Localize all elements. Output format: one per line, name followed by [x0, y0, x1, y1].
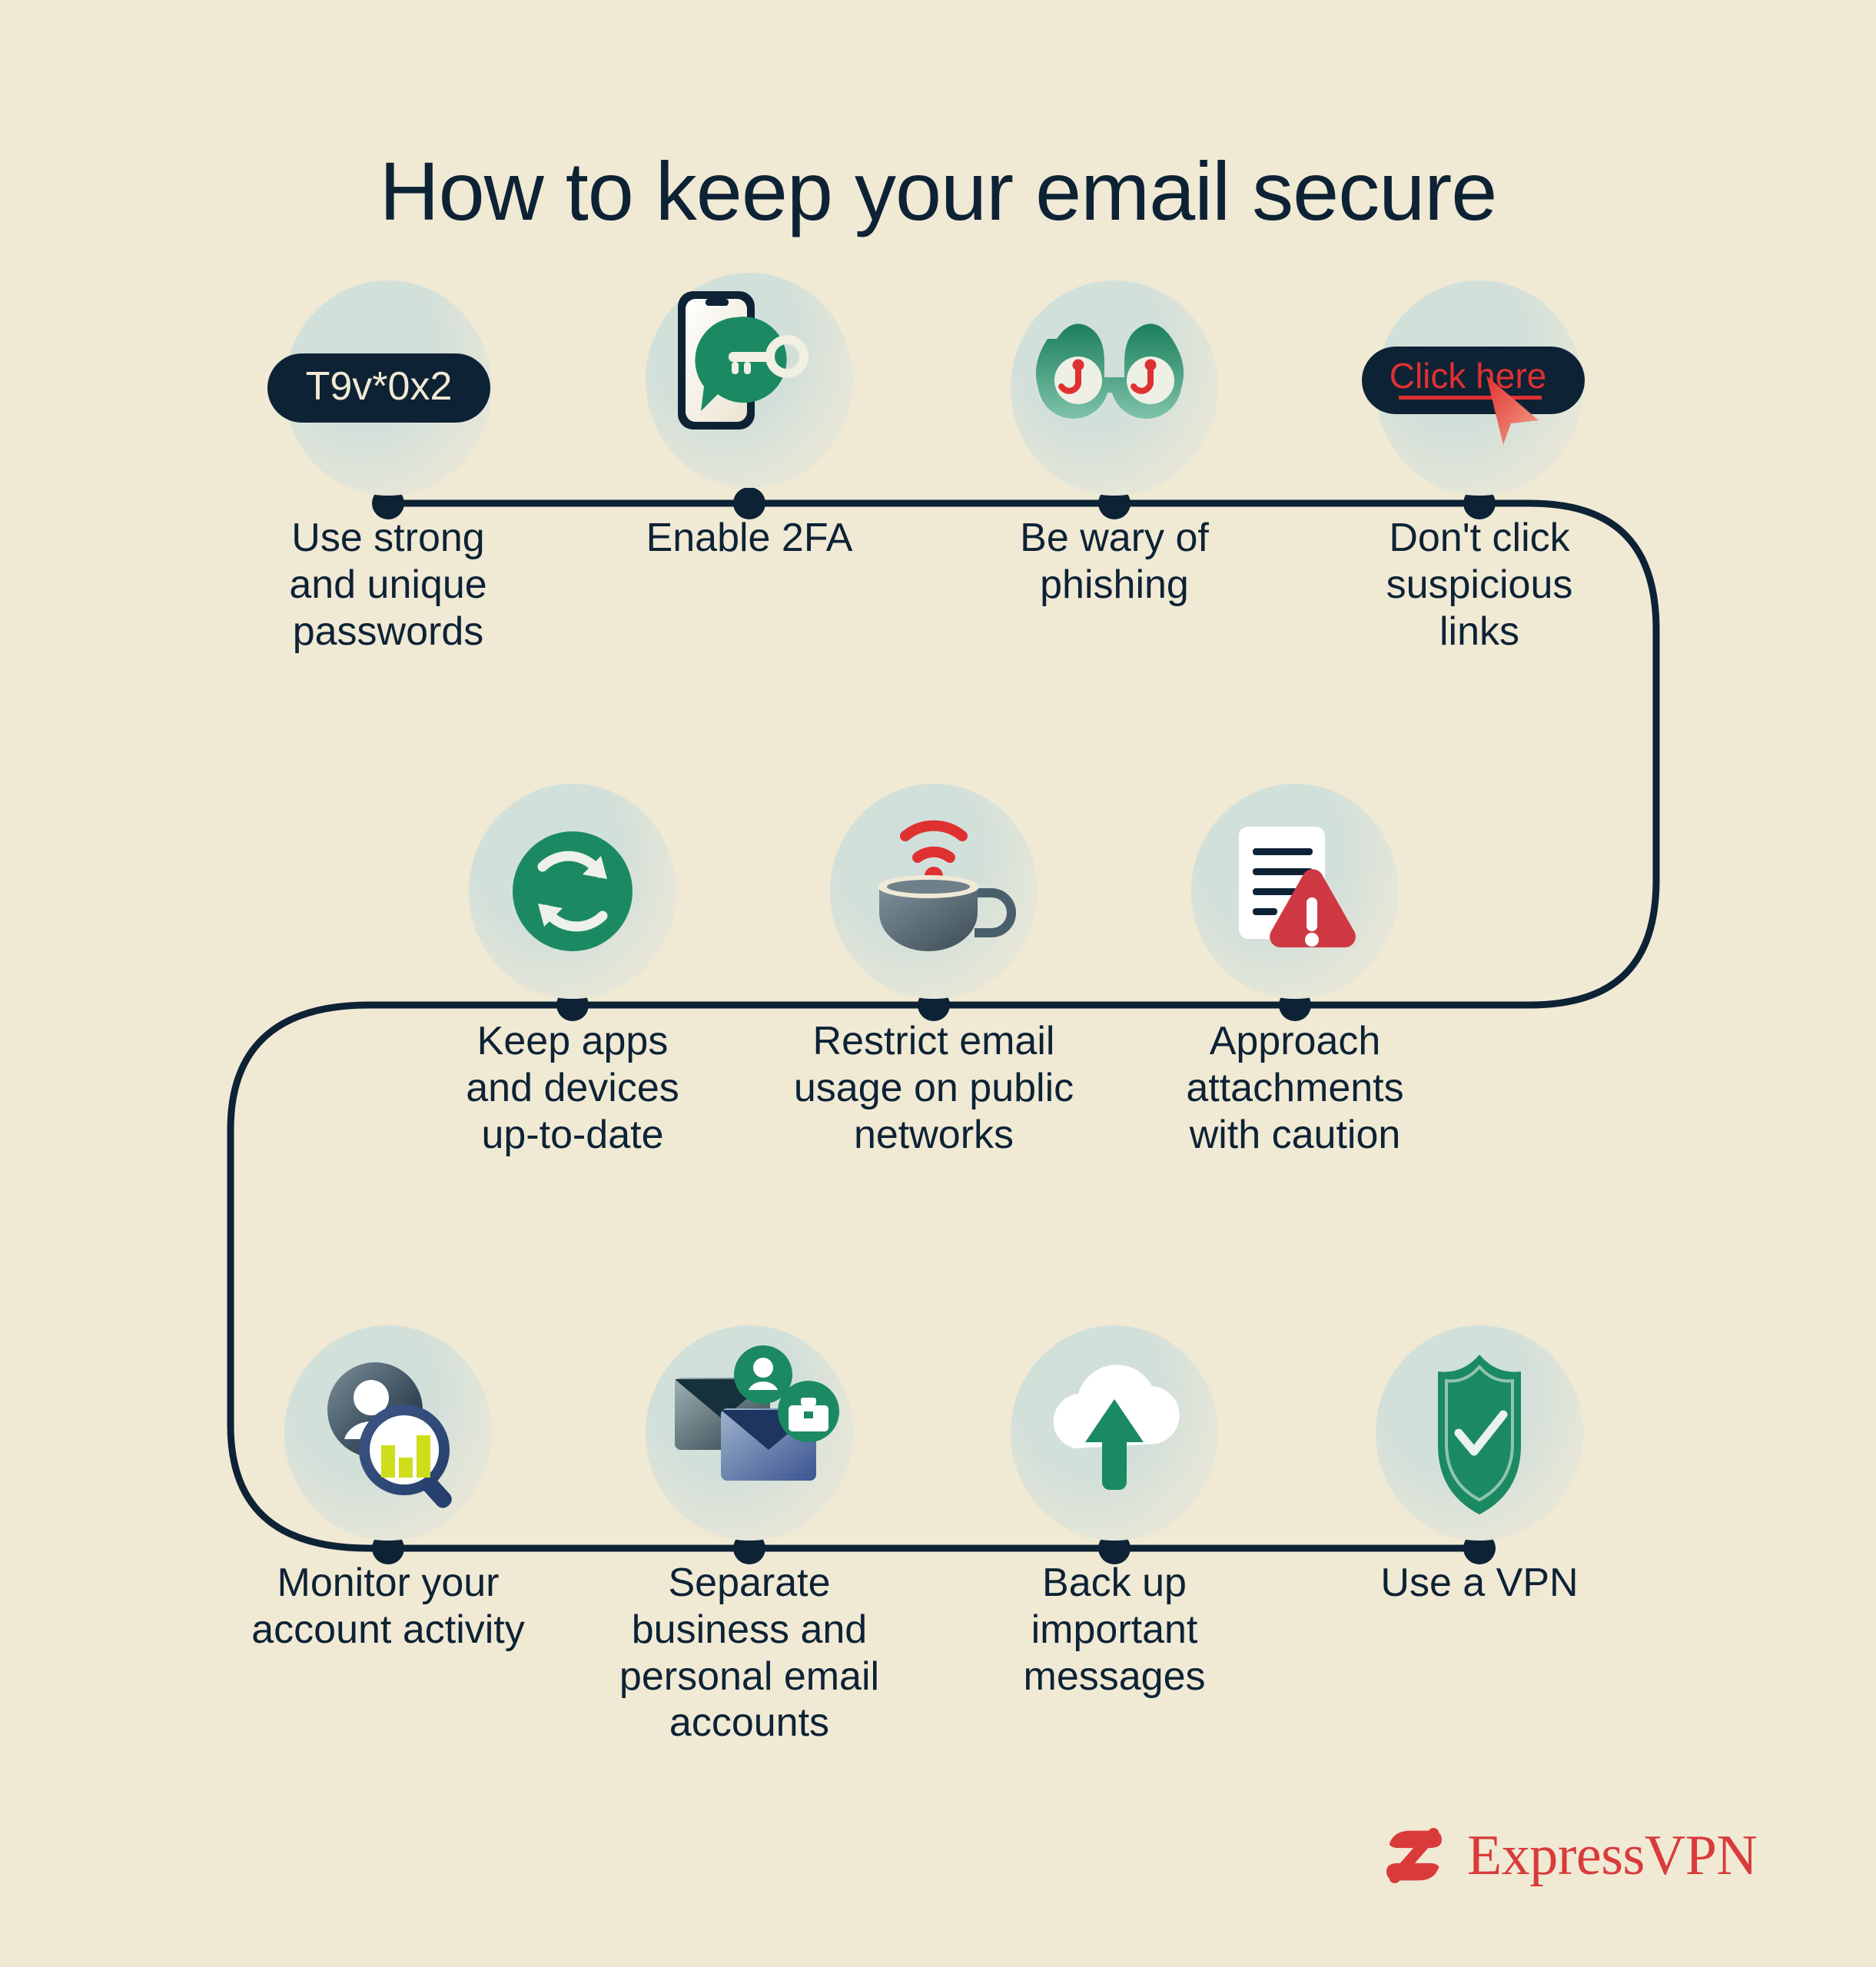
phone-key-bubble-icon	[646, 273, 853, 488]
expressvpn-wordmark: ExpressVPN	[1467, 1823, 1757, 1889]
password-pill-icon: T9v*0x2	[284, 280, 492, 496]
document-warning-icon	[1191, 784, 1399, 999]
step-label: Enable 2FA	[569, 515, 930, 562]
shield-check-icon	[1376, 1325, 1583, 1541]
step-label: Monitor your account activity	[208, 1560, 569, 1654]
step-label: Be wary of phishing	[934, 515, 1295, 609]
click-here-cursor-icon: Click here	[1376, 280, 1583, 496]
infographic-canvas: How to keep your email secure	[0, 0, 1876, 1967]
separate-envelopes-icon	[646, 1325, 853, 1541]
step-label: Approach attachments with caution	[1114, 1018, 1476, 1158]
step-label: Use strong and unique passwords	[208, 515, 569, 655]
click-here-text: Click here	[1390, 356, 1547, 396]
step-label: Don't click suspicious links	[1299, 515, 1660, 655]
refresh-update-icon	[469, 784, 676, 999]
step-label: Back up important messages	[934, 1560, 1295, 1700]
step-label: Use a VPN	[1299, 1560, 1660, 1607]
step-label: Restrict email usage on public networks	[753, 1018, 1114, 1158]
cloud-upload-icon	[1011, 1325, 1218, 1541]
expressvpn-logo[interactable]: ExpressVPN	[1380, 1821, 1757, 1890]
step-label: Keep apps and devices up-to-date	[392, 1018, 753, 1158]
page-title: How to keep your email secure	[0, 146, 1876, 237]
expressvpn-mark-icon	[1380, 1821, 1449, 1890]
coffee-wifi-icon	[830, 784, 1038, 999]
step-label: Separate business and personal email acc…	[569, 1560, 930, 1746]
binoculars-fishhook-icon	[1011, 280, 1218, 496]
password-pill-text: T9v*0x2	[306, 364, 453, 409]
account-activity-magnifier-icon	[284, 1325, 492, 1541]
